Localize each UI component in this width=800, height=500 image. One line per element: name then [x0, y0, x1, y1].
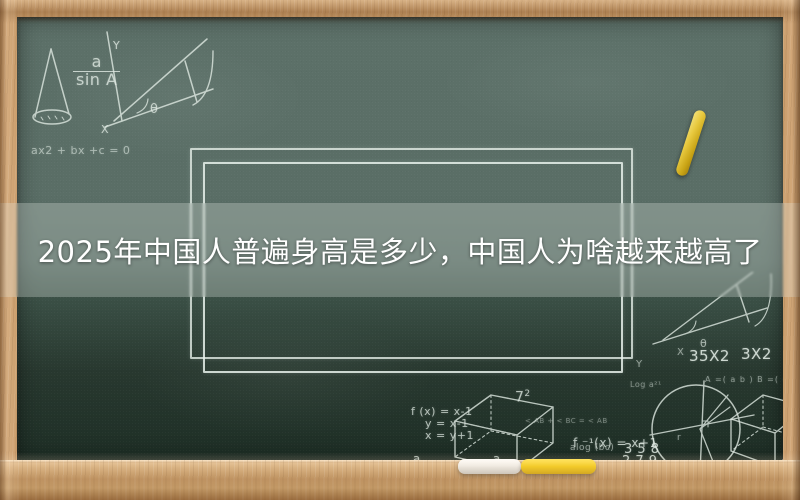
- formula-a-over-sin-a-bottomleft: a sin A: [398, 453, 436, 460]
- blackboard-image: Y X θ a sin A ax2 + bx +c = 0 X θ 35X2 3…: [0, 0, 800, 500]
- page-title: 2025年中国人普遍身高是多少，中国人为啥越来越高了: [38, 229, 763, 271]
- radius-label: r: [677, 433, 681, 443]
- label-log-small: Log a²¹: [630, 380, 662, 389]
- matrix-notation-row: A =( a b ) B =( c d ) I =( 1 0 ): [705, 375, 783, 384]
- chalk-drawing-cube-right: [725, 389, 783, 460]
- axis-label-x-right: X: [677, 347, 684, 358]
- fraction-numerator: a: [398, 453, 436, 460]
- exponent: 2: [524, 389, 530, 399]
- chalk-drawing-circle-radii: [642, 377, 762, 460]
- chalk-drawing-cube-left: [447, 387, 567, 460]
- label-3x2: 3X2: [741, 345, 772, 363]
- title-overlay-band: 2025年中国人普遍身高是多少，中国人为啥越来越高了: [0, 203, 800, 297]
- angle-label-theta-right: θ: [700, 337, 707, 350]
- base-number: 7: [515, 390, 524, 406]
- axis-label-y: Y: [113, 39, 120, 52]
- chalk-smear: [47, 37, 307, 157]
- label-seven-squared: 72: [515, 389, 531, 406]
- formula-quadratic: ax2 + bx +c = 0: [31, 144, 130, 157]
- angle-label-theta: θ: [150, 102, 158, 117]
- sum-row-1: 3 5 8: [624, 442, 660, 457]
- label-35x2: 35X2: [689, 347, 730, 365]
- formula-alog-bc: alog (bc): [570, 443, 614, 453]
- fraction-numerator: a: [73, 54, 120, 72]
- chalk-tray-ledge: [0, 460, 800, 500]
- fraction-denominator: sin A: [73, 72, 120, 89]
- formula-inverse-function: f ⁻¹(x) = x+1: [573, 436, 658, 450]
- formula-a-over-sin-a-topleft: a sin A: [73, 54, 120, 89]
- label-small-identity: < AB + < BC = < AB: [525, 417, 608, 425]
- formula-fx-line-3: x = y+1: [425, 429, 474, 442]
- formula-fx-line-2: y = x-1: [425, 417, 469, 430]
- formula-fx-line-1: f (x) = x-1: [411, 405, 473, 420]
- yellow-chalk-stick-in-tray[interactable]: [521, 459, 596, 474]
- axis-label-x: X: [101, 123, 109, 136]
- yellow-chalk-stick-on-board[interactable]: [675, 109, 707, 177]
- tray-wood-grain: [0, 460, 800, 500]
- axis-label-y-circle: Y: [636, 359, 643, 370]
- white-chalk-stick-in-tray[interactable]: [458, 459, 521, 474]
